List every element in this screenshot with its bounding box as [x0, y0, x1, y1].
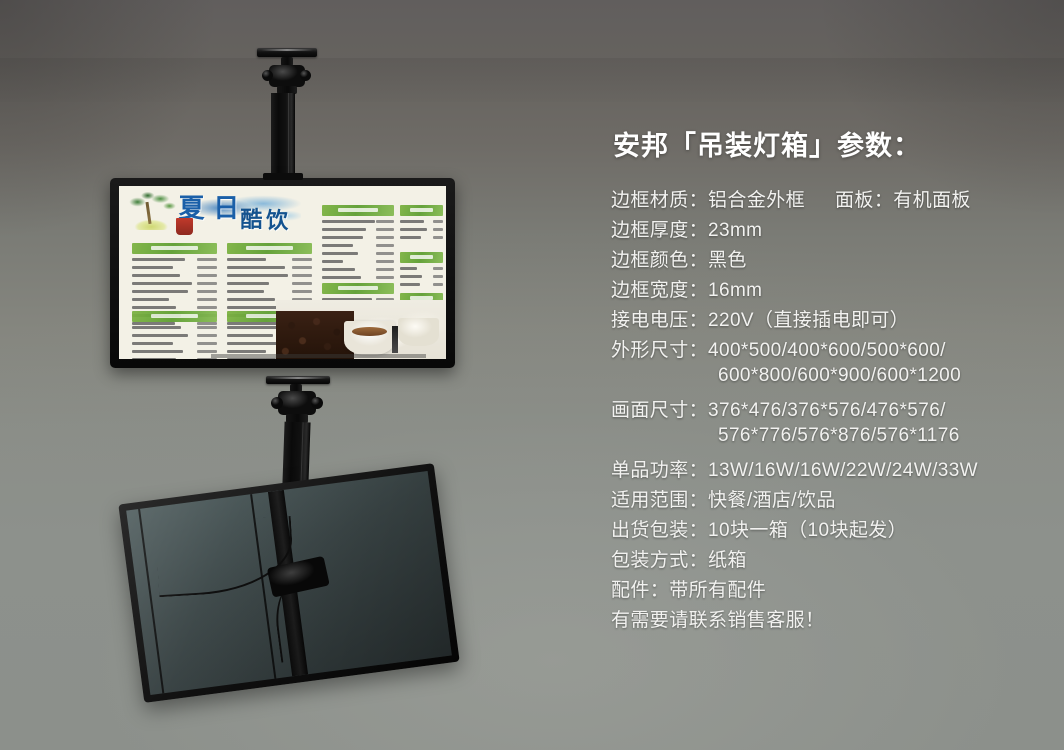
menu-row [227, 289, 312, 294]
menu-row [132, 265, 217, 270]
mount-pivot-nut-lower-2 [311, 397, 323, 409]
headline-char-2: 日 [213, 195, 239, 221]
menu-row [322, 243, 394, 248]
spec-label: 画面尺寸： [611, 395, 708, 422]
spec-value: 400*500/400*600/500*600/ [708, 340, 946, 362]
spec-row-graphic-size-cont: 576*776/576*876/576*1176 [611, 425, 1051, 455]
section-header-8 [322, 283, 394, 294]
coffee-cup-secondary [398, 318, 439, 346]
palm-trunk [146, 202, 152, 224]
hero-red-cup [176, 218, 193, 235]
spec-value: 黑色 [708, 245, 747, 272]
spec-row-frame-width: 边框宽度： 16mm [611, 275, 1051, 305]
menu-row [400, 274, 443, 279]
lightbox-top-tab [263, 173, 303, 180]
spec-label: 出货包装： [611, 515, 708, 542]
menu-row [132, 257, 217, 262]
menu-row [322, 267, 394, 272]
spec-row-contact-note: 有需要请联系销售客服！ [611, 605, 1051, 635]
menu-row [132, 297, 217, 302]
coffee-photo-inset [276, 300, 446, 359]
product-spec-image: 夏 日 酷 饮 [0, 0, 1064, 750]
menu-row [132, 357, 217, 359]
coffee-cup-primary [344, 321, 395, 355]
spec-value: 23mm [708, 220, 762, 242]
lightbox-front-unit: 夏 日 酷 饮 [110, 178, 455, 368]
poster-section-3 [132, 311, 217, 359]
menu-row [227, 273, 312, 278]
menu-row [322, 259, 394, 264]
spec-row-packaging: 包装方式： 纸箱 [611, 545, 1051, 575]
menu-row [322, 235, 394, 240]
spec-row-frame-color: 边框颜色： 黑色 [611, 245, 1051, 275]
spec-panel: 安邦「吊装灯箱」参数： 边框材质： 铝合金外框 面板： 有机面板 边框厚度： 2… [611, 124, 1051, 635]
menu-row [400, 282, 443, 287]
menu-row [132, 273, 217, 278]
menu-row [400, 266, 443, 271]
ceiling-plate-highlight-lower [270, 377, 326, 379]
menu-row [400, 227, 443, 232]
drink-straw [392, 326, 398, 353]
spec-list: 边框材质： 铝合金外框 面板： 有机面板 边框厚度： 23mm 边框颜色： 黑色… [611, 185, 1051, 635]
menu-row [322, 275, 394, 280]
menu-row [322, 227, 394, 232]
spec-label-panel: 面板： [835, 185, 893, 212]
ceiling-plate-lower [266, 376, 330, 384]
section-rows-3 [132, 325, 217, 359]
menu-row [132, 333, 217, 338]
menu-row [132, 325, 217, 330]
section-header-3 [132, 311, 217, 322]
spec-value: 铝合金外框 [708, 185, 805, 212]
spec-label: 包装方式： [611, 545, 708, 572]
poster-section-7 [400, 252, 443, 290]
section-header-1 [132, 243, 217, 254]
mount-pivot-nut-upper [262, 70, 273, 81]
ceiling-plate-highlight [261, 49, 314, 51]
headline-char-4: 饮 [266, 210, 288, 232]
menu-row [132, 341, 217, 346]
spec-label: 单品功率： [611, 455, 708, 482]
spec-label: 外形尺寸： [611, 335, 708, 362]
ceiling-plate-upper [257, 48, 317, 57]
section-rows-7 [400, 266, 443, 287]
poster-section-5 [322, 205, 394, 283]
mount-pivot-nut-upper-2 [300, 70, 311, 81]
spec-row-shipping-pack: 出货包装： 10块一箱（10块起发） [611, 515, 1051, 545]
coffee-beans [276, 311, 354, 359]
spec-row-voltage: 接电电压： 220V（直接插电即可） [611, 305, 1051, 335]
spec-row-outer-size-cont: 600*800/600*900/600*1200 [611, 365, 1051, 395]
spec-value: 576*776/576*876/576*1176 [718, 425, 960, 447]
ceiling-mount-upper [240, 48, 336, 188]
menu-row [400, 235, 443, 240]
spec-value: 快餐/酒店/饮品 [708, 485, 836, 512]
menu-row [132, 349, 217, 354]
spec-value: 10块一箱（10块起发） [708, 515, 907, 542]
spec-row-accessories: 配件： 带所有配件 [611, 575, 1051, 605]
spec-value: 376*476/376*576/476*576/ [708, 400, 946, 422]
section-header-2 [227, 243, 312, 254]
spec-label: 适用范围： [611, 485, 708, 512]
palm-tree-illustration [125, 190, 182, 230]
spec-label: 边框宽度： [611, 275, 708, 302]
mount-pivot-nut-lower [271, 397, 283, 409]
poster-footer-strip [211, 354, 427, 358]
menu-row [400, 219, 443, 224]
lightbox-rear-unit [118, 463, 459, 703]
menu-row [322, 219, 394, 224]
menu-row [132, 281, 217, 286]
menu-row [227, 281, 312, 286]
menu-poster: 夏 日 酷 饮 [119, 186, 446, 359]
section-header-7 [400, 252, 443, 263]
menu-row [132, 289, 217, 294]
menu-row [227, 257, 312, 262]
spec-label: 边框颜色： [611, 245, 708, 272]
spec-row-power: 单品功率： 13W/16W/16W/22W/24W/33W [611, 455, 1051, 485]
spec-row-frame-thickness: 边框厚度： 23mm [611, 215, 1051, 245]
spec-row-graphic-size: 画面尺寸： 376*476/376*576/476*576/ [611, 395, 1051, 425]
poster-hero: 夏 日 酷 饮 [119, 186, 309, 241]
spec-label: 配件： [611, 575, 669, 602]
spec-label: 边框材质： [611, 185, 708, 212]
spec-value: 220V（直接插电即可） [708, 305, 909, 332]
menu-row [132, 305, 217, 310]
section-rows-5 [322, 219, 394, 280]
menu-row [227, 265, 312, 270]
spec-value-panel: 有机面板 [893, 185, 971, 212]
spec-label: 接电电压： [611, 305, 708, 332]
spec-value: 带所有配件 [669, 575, 766, 602]
spec-value: 600*800/600*900/600*1200 [718, 365, 961, 387]
section-rows-6 [400, 219, 443, 240]
spec-value: 13W/16W/16W/22W/24W/33W [708, 460, 978, 482]
spec-title: 安邦「吊装灯箱」参数： [613, 124, 1051, 163]
spec-value: 16mm [708, 280, 762, 302]
spec-row-outer-size: 外形尺寸： 400*500/400*600/500*600/ [611, 335, 1051, 365]
poster-section-6 [400, 205, 443, 243]
spec-label: 边框厚度： [611, 215, 708, 242]
rear-shell-frame [118, 463, 459, 703]
spec-value: 纸箱 [708, 545, 747, 572]
poster-headline: 夏 日 酷 饮 [176, 194, 305, 233]
spec-row-applications: 适用范围： 快餐/酒店/饮品 [611, 485, 1051, 515]
headline-char-3: 酷 [240, 209, 262, 231]
section-header-6 [400, 205, 443, 216]
section-header-5 [322, 205, 394, 216]
spec-row-frame-material: 边框材质： 铝合金外框 面板： 有机面板 [611, 185, 1051, 215]
menu-row [322, 251, 394, 256]
